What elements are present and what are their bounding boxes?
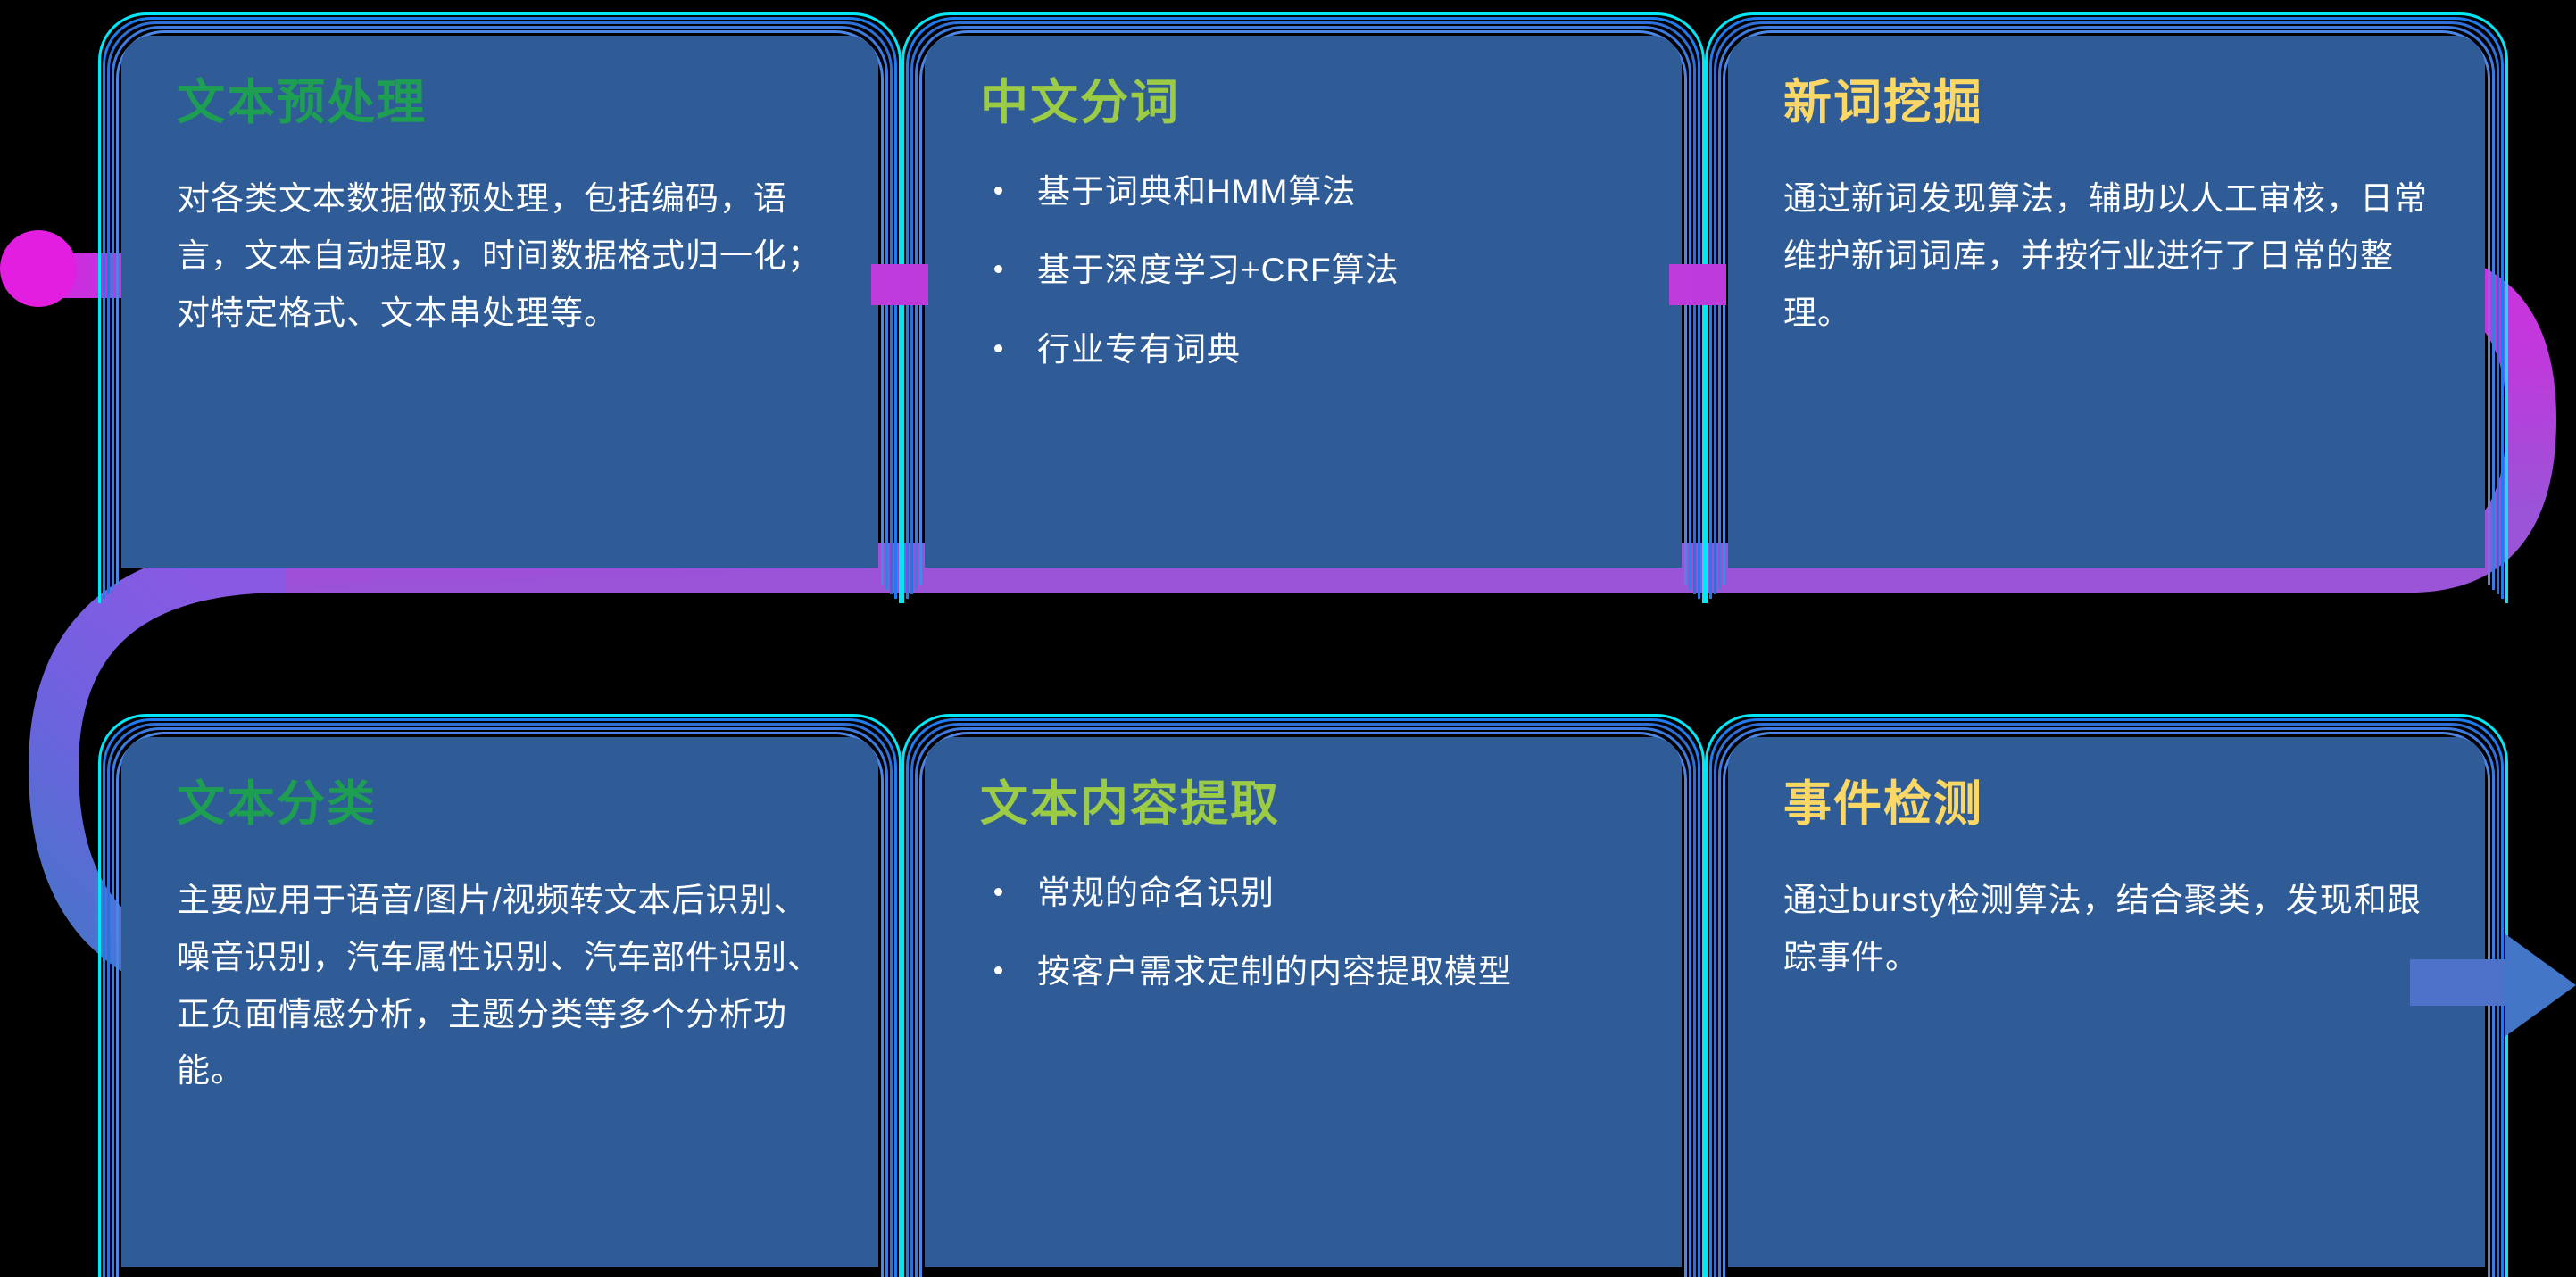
card-text-classification[interactable]: 文本分类 主要应用于语音/图片/视频转文本后识别、噪音识别，汽车属性识别、汽车部… — [98, 714, 902, 1267]
card-title: 事件检测 — [1783, 778, 2430, 831]
end-arrow-marker — [2505, 933, 2576, 1037]
card-title: 中文分词 — [980, 77, 1626, 129]
start-dot-marker — [0, 230, 77, 307]
card-title: 文本预处理 — [177, 77, 823, 129]
connector-chip-2-3 — [1669, 264, 1726, 305]
card-title: 文本内容提取 — [980, 778, 1626, 831]
card-body-paragraph: 对各类文本数据做预处理，包括编码，语言，文本自动提取，时间数据格式归一化；对特定… — [177, 170, 823, 341]
card-surface: 文本内容提取 常规的命名识别 按客户需求定制的内容提取模型 — [925, 737, 1682, 1267]
card-body-paragraph: 主要应用于语音/图片/视频转文本后识别、噪音识别，汽车属性识别、汽车部件识别、正… — [177, 872, 823, 1099]
card-content-extraction[interactable]: 文本内容提取 常规的命名识别 按客户需求定制的内容提取模型 — [902, 714, 1705, 1267]
card-surface: 中文分词 基于词典和HMM算法 基于深度学习+CRF算法 行业专有词典 — [925, 36, 1682, 568]
card-surface: 新词挖掘 通过新词发现算法，辅助以人工审核，日常维护新词词库，并按行业进行了日常… — [1728, 36, 2485, 568]
diagram-canvas: 文本预处理 对各类文本数据做预处理，包括编码，语言，文本自动提取，时间数据格式归… — [0, 0, 2576, 1277]
end-connector-bar — [2410, 959, 2517, 1006]
list-item: 基于深度学习+CRF算法 — [980, 249, 1626, 292]
card-event-detection[interactable]: 事件检测 通过bursty检测算法，结合聚类，发现和跟踪事件。 — [1705, 714, 2508, 1267]
connector-chip-1-2 — [871, 264, 928, 305]
card-body-paragraph: 通过新词发现算法，辅助以人工审核，日常维护新词词库，并按行业进行了日常的整理。 — [1783, 170, 2430, 341]
card-row-1: 文本预处理 对各类文本数据做预处理，包括编码，语言，文本自动提取，时间数据格式归… — [98, 12, 2508, 568]
card-body-bullets: 常规的命名识别 按客户需求定制的内容提取模型 — [980, 872, 1626, 993]
card-surface: 事件检测 通过bursty检测算法，结合聚类，发现和跟踪事件。 — [1728, 737, 2485, 1267]
card-body-bullets: 基于词典和HMM算法 基于深度学习+CRF算法 行业专有词典 — [980, 170, 1626, 370]
card-row-2: 文本分类 主要应用于语音/图片/视频转文本后识别、噪音识别，汽车属性识别、汽车部… — [98, 714, 2508, 1267]
card-surface: 文本分类 主要应用于语音/图片/视频转文本后识别、噪音识别，汽车属性识别、汽车部… — [121, 737, 878, 1267]
card-body-paragraph: 通过bursty检测算法，结合聚类，发现和跟踪事件。 — [1783, 872, 2430, 985]
list-item: 按客户需求定制的内容提取模型 — [980, 950, 1626, 993]
card-title: 新词挖掘 — [1783, 77, 2430, 129]
list-item: 常规的命名识别 — [980, 872, 1626, 915]
card-chinese-segmentation[interactable]: 中文分词 基于词典和HMM算法 基于深度学习+CRF算法 行业专有词典 — [902, 12, 1705, 568]
card-new-word-mining[interactable]: 新词挖掘 通过新词发现算法，辅助以人工审核，日常维护新词词库，并按行业进行了日常… — [1705, 12, 2508, 568]
list-item: 行业专有词典 — [980, 328, 1626, 371]
list-item: 基于词典和HMM算法 — [980, 170, 1626, 213]
card-text-preprocessing[interactable]: 文本预处理 对各类文本数据做预处理，包括编码，语言，文本自动提取，时间数据格式归… — [98, 12, 902, 568]
card-surface: 文本预处理 对各类文本数据做预处理，包括编码，语言，文本自动提取，时间数据格式归… — [121, 36, 878, 568]
card-title: 文本分类 — [177, 778, 823, 831]
